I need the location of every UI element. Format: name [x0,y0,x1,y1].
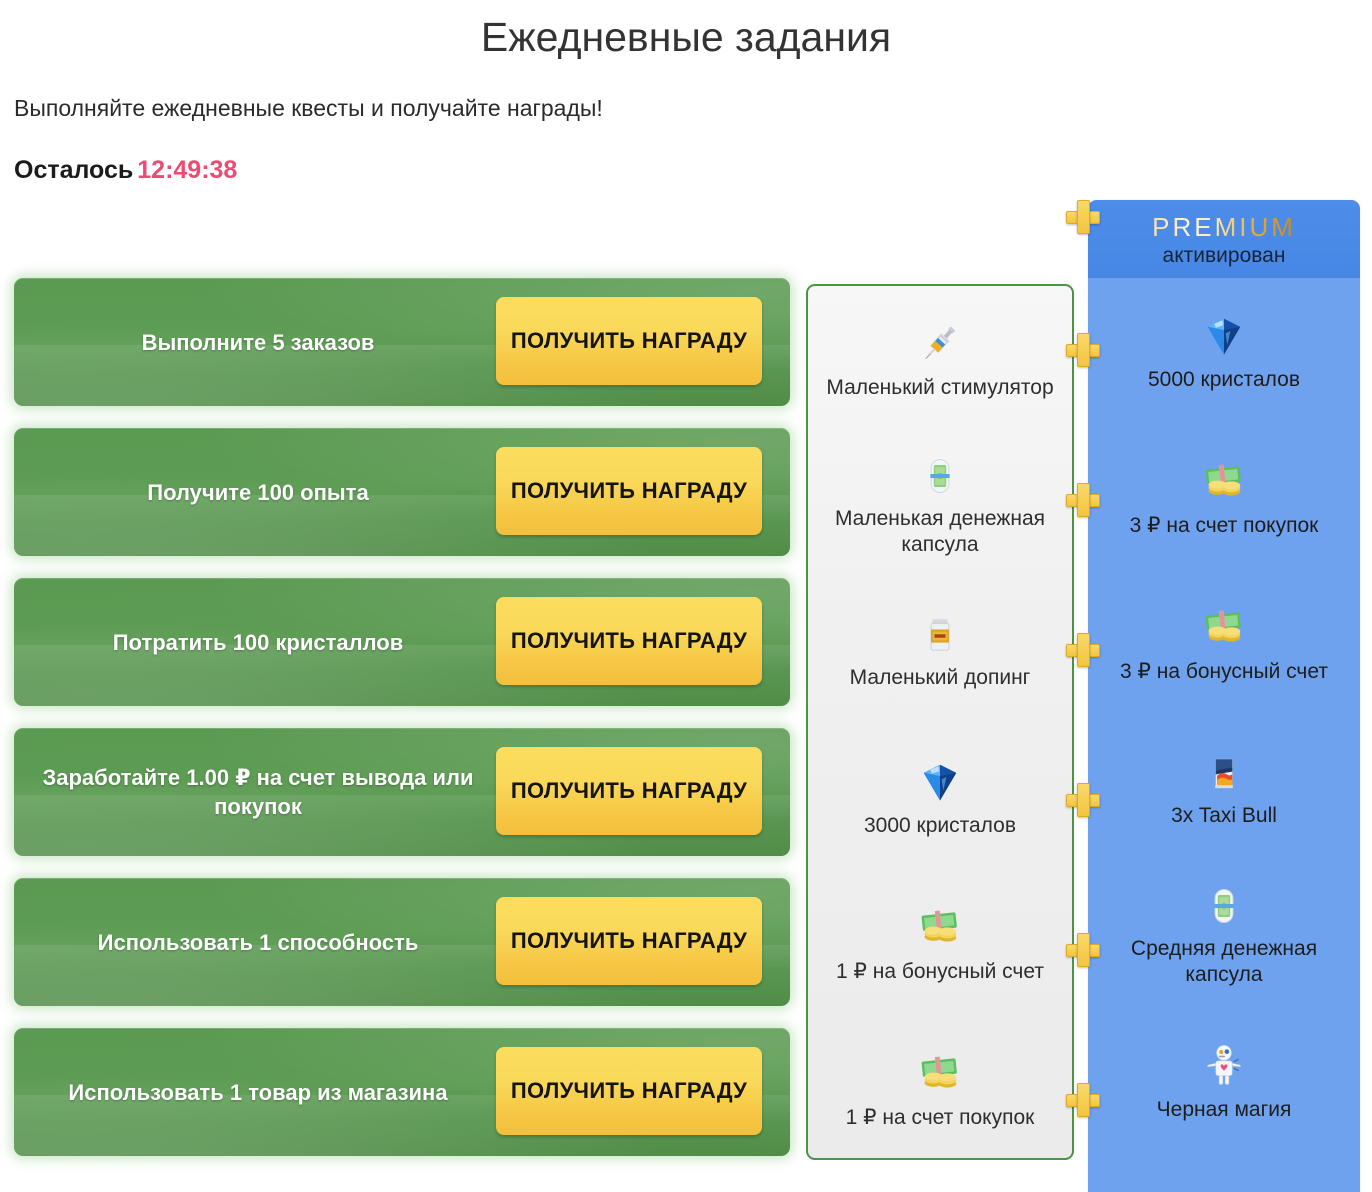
reward-item: 1 ₽ на бонусный счет [808,870,1072,1016]
reward-label: 5000 кристалов [1148,367,1300,393]
daily-quests-page: Ежедневные задания Выполняйте ежедневные… [0,0,1372,1192]
task-row: Использовать 1 товар из магазина ПОЛУЧИТ… [14,1028,790,1156]
task-row: Потратить 100 кристаллов ПОЛУЧИТЬ НАГРАД… [14,578,790,706]
plus-connector-icon [1066,483,1100,517]
task-label: Использовать 1 способность [28,928,488,957]
money-capsule-icon [918,452,962,500]
reward-item: Маленькая денежная капсула [808,432,1072,578]
plus-connector-icon [1066,333,1100,367]
premium-header: PREMIUM активирован [1088,200,1360,278]
crystal-icon [1198,309,1250,361]
voodoo-doll-icon [1198,1039,1250,1091]
premium-reward-item: Средняя денежная капсула [1088,862,1360,1008]
reward-label: Средняя денежная капсула [1096,936,1352,988]
task-label: Получите 100 опыта [28,478,488,507]
crystal-icon [914,755,966,807]
claim-reward-button[interactable]: ПОЛУЧИТЬ НАГРАДУ [496,897,762,985]
timer-label: Осталось [14,156,133,184]
claim-reward-button[interactable]: ПОЛУЧИТЬ НАГРАДУ [496,747,762,835]
reward-label: Черная магия [1157,1097,1292,1123]
reward-item: 1 ₽ на счет покупок [808,1016,1072,1160]
claim-reward-button[interactable]: ПОЛУЧИТЬ НАГРАДУ [496,447,762,535]
reward-item: Маленький стимулятор [808,286,1072,432]
reward-label: 3 ₽ на счет покупок [1130,513,1319,539]
premium-reward-item: 5000 кристалов [1088,278,1360,424]
plus-connector-icon [1066,1083,1100,1117]
plus-connector-icon [1066,783,1100,817]
reward-item: 3000 кристалов [808,724,1072,870]
premium-reward-item: 3 ₽ на счет покупок [1088,424,1360,570]
money-stack-icon [914,901,966,953]
reward-label: 3 ₽ на бонусный счет [1120,659,1328,685]
task-row: Выполните 5 заказов ПОЛУЧИТЬ НАГРАДУ [14,278,790,406]
reward-label: 1 ₽ на счет покупок [846,1105,1035,1131]
premium-reward-panel: PREMIUM активирован 5000 кристалов [1088,200,1360,1192]
page-subtitle: Выполняйте ежедневные квесты и получайте… [14,94,1372,122]
money-stack-icon [1198,455,1250,507]
reward-label: Маленький стимулятор [826,375,1053,401]
reward-label: Маленький допинг [850,665,1031,691]
page-title: Ежедневные задания [0,0,1372,62]
claim-reward-button[interactable]: ПОЛУЧИТЬ НАГРАДУ [496,297,762,385]
reward-item: Маленький допинг [808,578,1072,724]
syringe-icon [914,317,966,369]
task-list: Выполните 5 заказов ПОЛУЧИТЬ НАГРАДУ Пол… [14,278,790,1178]
premium-status: активирован [1163,243,1286,269]
money-stack-icon [914,1047,966,1099]
premium-reward-item: Черная магия [1088,1008,1360,1154]
task-label: Использовать 1 товар из магазина [28,1078,488,1107]
claim-reward-button[interactable]: ПОЛУЧИТЬ НАГРАДУ [496,1047,762,1135]
task-label: Выполните 5 заказов [28,328,488,357]
plus-connector-icon [1066,200,1100,234]
doping-jar-icon [918,611,962,659]
premium-title: PREMIUM [1152,212,1296,242]
timer-value: 12:49:38 [137,156,237,184]
task-row: Заработайте 1.00 ₽ на счет вывода или по… [14,728,790,856]
base-reward-panel: Маленький стимулятор Маленькая денежная … [806,284,1074,1160]
premium-reward-item: 3x Taxi Bull [1088,716,1360,862]
task-label: Заработайте 1.00 ₽ на счет вывода или по… [28,763,488,821]
claim-reward-button[interactable]: ПОЛУЧИТЬ НАГРАДУ [496,597,762,685]
countdown-timer: Осталось12:49:38 [14,155,1372,185]
money-capsule-icon [1202,882,1246,930]
taxi-bull-icon [1202,749,1246,797]
task-label: Потратить 100 кристаллов [28,628,488,657]
task-row: Получите 100 опыта ПОЛУЧИТЬ НАГРАДУ [14,428,790,556]
reward-label: Маленькая денежная капсула [814,506,1066,558]
reward-label: 3000 кристалов [864,813,1016,839]
plus-connector-icon [1066,633,1100,667]
reward-label: 1 ₽ на бонусный счет [836,959,1044,985]
money-stack-icon [1198,601,1250,653]
task-row: Использовать 1 способность ПОЛУЧИТЬ НАГР… [14,878,790,1006]
plus-connector-icon [1066,933,1100,967]
premium-reward-list: 5000 кристалов 3 ₽ [1088,278,1360,1192]
reward-label: 3x Taxi Bull [1171,803,1277,829]
premium-reward-item: 3 ₽ на бонусный счет [1088,570,1360,716]
content-columns: Выполните 5 заказов ПОЛУЧИТЬ НАГРАДУ Пол… [0,200,1372,1192]
